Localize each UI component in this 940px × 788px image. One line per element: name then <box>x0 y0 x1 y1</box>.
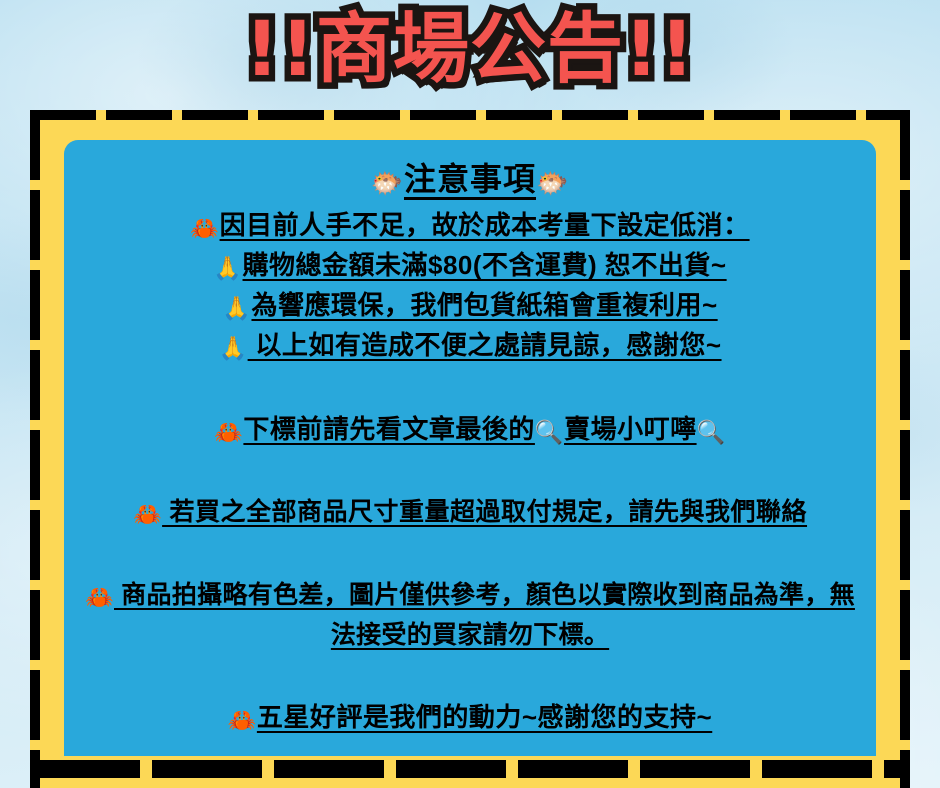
frame-dash-top <box>30 110 910 120</box>
shop-tips-label: 賣場小叮嚀 <box>564 414 697 444</box>
list-item-label: 因目前人手不足，故於成本考量下設定低消： <box>220 210 750 240</box>
list-item: 🙏 以上如有造成不便之處請見諒，感謝您~ <box>78 326 862 366</box>
magnifying-glass-icon-left: 🔍 <box>535 416 564 450</box>
blowfish-icon-right: 🐡 <box>536 169 569 199</box>
size-weight-notice-label: 若買之全部商品尺寸重量超過取付規定，請先與我們聯絡 <box>162 498 807 526</box>
color-difference-notice: 🦀 商品拍攝略有色差，圖片僅供參考，顏色以實際收到商品為準，無法接受的買家請勿下… <box>78 576 862 654</box>
page-title: !!商場公告!! <box>245 6 696 91</box>
size-weight-notice: 🦀 若買之全部商品尺寸重量超過取付規定，請先與我們聯絡 <box>78 494 862 532</box>
frame-dash-left <box>30 110 40 788</box>
magnifying-glass-icon-right: 🔍 <box>697 416 726 450</box>
list-item: 🦀因目前人手不足，故於成本考量下設定低消： <box>78 206 862 246</box>
praying-hands-icon: 🙏 <box>213 252 242 286</box>
crab-icon: 🦀 <box>228 704 257 738</box>
notice-lines: 🦀因目前人手不足，故於成本考量下設定低消： 🙏購物總金額未滿$80(不含運費) … <box>78 206 862 738</box>
poster-title-area: !!商場公告!! <box>0 6 940 91</box>
notice-heading: 🐡注意事項🐡 <box>78 154 862 200</box>
frame-dash-right <box>900 110 910 788</box>
notice-heading-label: 注意事項 <box>404 161 536 197</box>
blue-content-panel: 🐡注意事項🐡 🦀因目前人手不足，故於成本考量下設定低消： 🙏購物總金額未滿$80… <box>64 140 876 756</box>
praying-hands-icon: 🙏 <box>222 292 251 326</box>
crab-icon: 🦀 <box>190 212 219 246</box>
praying-hands-icon: 🙏 <box>218 332 247 366</box>
blowfish-icon-left: 🐡 <box>371 169 404 199</box>
list-item: 🙏購物總金額未滿$80(不含運費) 恕不出貨~ <box>78 246 862 286</box>
crab-icon: 🦀 <box>214 416 243 450</box>
color-difference-notice-label: 商品拍攝略有色差，圖片僅供參考，顏色以實際收到商品為準，無法接受的買家請勿下標。 <box>114 581 855 649</box>
list-item-label: 為響應環保，我們包貨紙箱會重複利用~ <box>251 290 717 320</box>
shop-tips-prefix: 下標前請先看文章最後的 <box>243 414 535 444</box>
crab-icon: 🦀 <box>85 581 114 616</box>
review-request-notice-label: 五星好評是我們的動力~感謝您的支持~ <box>257 702 712 732</box>
list-item-label: 以上如有造成不便之處請見諒，感謝您~ <box>248 330 722 360</box>
frame-dash-bottom <box>30 760 910 778</box>
announcement-poster: !!商場公告!! 🐡注意事項🐡 🦀因目前人手不足，故於成本考量下設定低消： 🙏購… <box>0 0 940 788</box>
list-item: 🙏為響應環保，我們包貨紙箱會重複利用~ <box>78 286 862 326</box>
crab-icon: 🦀 <box>133 498 162 532</box>
shop-tips-notice: 🦀下標前請先看文章最後的🔍賣場小叮嚀🔍 <box>78 410 862 450</box>
notice-heading-text: 🐡注意事項🐡 <box>371 154 570 200</box>
review-request-notice: 🦀五星好評是我們的動力~感謝您的支持~ <box>78 698 862 738</box>
list-item-label: 購物總金額未滿$80(不含運費) 恕不出貨~ <box>243 250 727 280</box>
